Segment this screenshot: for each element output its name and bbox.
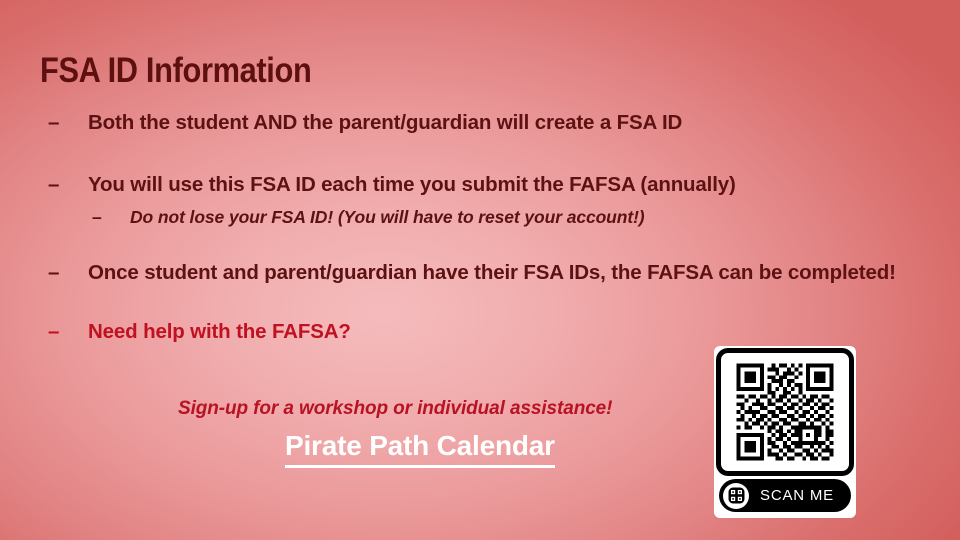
bullet-dash: – bbox=[40, 170, 88, 199]
bullet-text: Need help with the FAFSA? bbox=[88, 317, 920, 346]
sub-bullet-dash: – bbox=[92, 205, 130, 229]
bullet-text: Once student and parent/guardian have th… bbox=[88, 258, 906, 287]
qr-code-widget[interactable]: SCAN ME bbox=[714, 346, 856, 518]
page-title: FSA ID Information bbox=[40, 50, 311, 92]
qr-code-image bbox=[729, 356, 841, 468]
bullet-item-4: – Need help with the FAFSA? bbox=[40, 317, 920, 346]
bullet-text: You will use this FSA ID each time you s… bbox=[88, 170, 920, 199]
bullet-item-3: – Once student and parent/guardian have … bbox=[40, 258, 920, 287]
bullet-dash: – bbox=[40, 317, 88, 346]
signup-caption: Sign-up for a workshop or individual ass… bbox=[178, 396, 612, 421]
bullet-dash: – bbox=[40, 258, 88, 287]
sub-bullet-item: – Do not lose your FSA ID! (You will hav… bbox=[92, 205, 920, 229]
scan-me-label: SCAN ME bbox=[749, 487, 851, 504]
scan-me-badge[interactable]: SCAN ME bbox=[719, 479, 851, 512]
bullet-dash: – bbox=[40, 108, 88, 137]
pirate-path-calendar-link[interactable]: Pirate Path Calendar bbox=[285, 428, 555, 468]
bullet-list: – Both the student AND the parent/guardi… bbox=[40, 108, 920, 346]
bullet-text: Both the student AND the parent/guardian… bbox=[88, 108, 920, 137]
slide-canvas: FSA ID Information – Both the student AN… bbox=[0, 0, 960, 540]
qr-code-icon bbox=[723, 483, 749, 509]
bullet-item-2: – You will use this FSA ID each time you… bbox=[40, 170, 920, 199]
qr-code-card[interactable] bbox=[716, 348, 854, 476]
bullet-item-1: – Both the student AND the parent/guardi… bbox=[40, 108, 920, 137]
sub-bullet-text: Do not lose your FSA ID! (You will have … bbox=[130, 205, 645, 229]
